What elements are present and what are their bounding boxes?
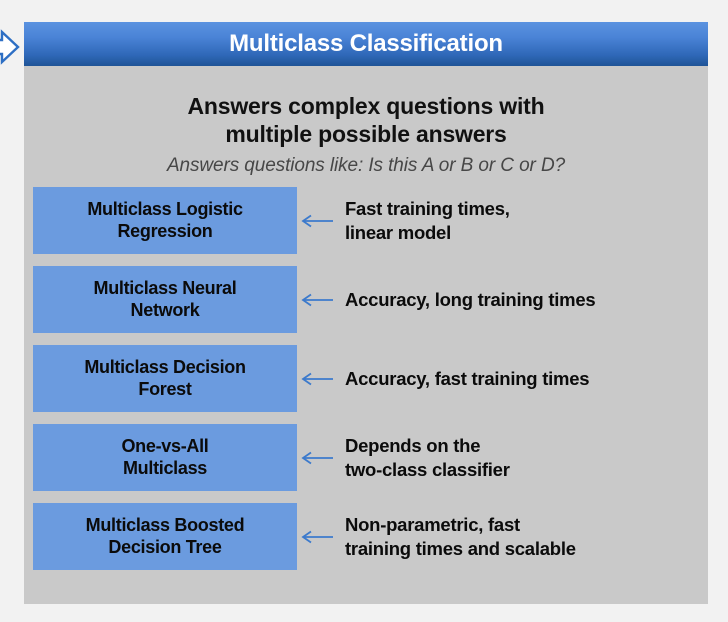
page-title: Multiclass Classification [229,32,503,56]
description-line-1: Non-parametric, fast [345,513,576,536]
algorithm-box-multiclass-boosted-decision-tree[interactable]: Multiclass Boosted Decision Tree [33,503,297,570]
algorithm-box-multiclass-decision-forest[interactable]: Multiclass Decision Forest [33,345,297,412]
algorithm-label: Multiclass Boosted Decision Tree [86,515,245,557]
algorithm-box-one-vs-all-multiclass[interactable]: One-vs-All Multiclass [33,424,297,491]
description-label: Depends on the two-class classifier [345,434,510,481]
arrow-left-icon [297,345,337,412]
list-item: Multiclass Neural Network Accuracy, long… [33,266,708,333]
description-line-2: two-class classifier [345,458,510,481]
algorithm-label-line-1: One-vs-All [121,436,208,457]
arrow-left-icon [297,503,337,570]
description-label: Fast training times, linear model [345,197,510,244]
arrow-left-icon [297,187,337,254]
algorithm-label: Multiclass Decision Forest [84,357,245,399]
algorithm-box-multiclass-neural-network[interactable]: Multiclass Neural Network [33,266,297,333]
description-label: Non-parametric, fast training times and … [345,513,576,560]
list-item: One-vs-All Multiclass Depends on the two… [33,424,708,491]
description-line-2: linear model [345,221,510,244]
algorithm-label-line-1: Multiclass Decision [84,357,245,378]
description-cell: Non-parametric, fast training times and … [337,503,708,570]
algorithm-label-line-2: Multiclass [121,458,208,479]
intro-heading-line-1: Answers complex questions with [24,92,708,120]
algorithm-box-multiclass-logistic-regression[interactable]: Multiclass Logistic Regression [33,187,297,254]
algorithm-label: Multiclass Neural Network [94,278,237,320]
description-label: Accuracy, fast training times [345,367,589,390]
intro-heading-line-2: multiple possible answers [24,120,708,148]
panel-header: Multiclass Classification [24,22,708,66]
description-line-2: training times and scalable [345,537,576,560]
description-line-1: Fast training times, [345,197,510,220]
description-label: Accuracy, long training times [345,288,595,311]
algorithm-label-line-1: Multiclass Logistic [87,199,242,220]
intro-subtitle: Answers questions like: Is this A or B o… [24,155,708,177]
algorithm-label: One-vs-All Multiclass [121,436,208,478]
algorithm-label-line-1: Multiclass Boosted [86,515,245,536]
algorithm-label-line-2: Regression [87,221,242,242]
description-cell: Accuracy, fast training times [337,345,708,412]
multiclass-classification-panel: Multiclass Classification Answers comple… [24,22,708,604]
algorithm-label: Multiclass Logistic Regression [87,199,242,241]
algorithm-label-line-2: Forest [84,379,245,400]
description-cell: Fast training times, linear model [337,187,708,254]
algorithm-list: Multiclass Logistic Regression Fast trai… [33,187,708,582]
list-item: Multiclass Logistic Regression Fast trai… [33,187,708,254]
algorithm-label-line-2: Decision Tree [86,537,245,558]
description-line-1: Accuracy, long training times [345,288,595,311]
arrow-left-icon [297,266,337,333]
algorithm-label-line-1: Multiclass Neural [94,278,237,299]
intro-heading: Answers complex questions with multiple … [24,92,708,148]
list-item: Multiclass Decision Forest Accuracy, fas… [33,345,708,412]
description-cell: Depends on the two-class classifier [337,424,708,491]
arrow-left-icon [297,424,337,491]
description-line-1: Accuracy, fast training times [345,367,589,390]
description-cell: Accuracy, long training times [337,266,708,333]
description-line-1: Depends on the [345,434,510,457]
list-item: Multiclass Boosted Decision Tree Non-par… [33,503,708,570]
intro-block: Answers complex questions with multiple … [24,66,708,177]
algorithm-label-line-2: Network [94,300,237,321]
arrow-right-icon [0,28,20,66]
